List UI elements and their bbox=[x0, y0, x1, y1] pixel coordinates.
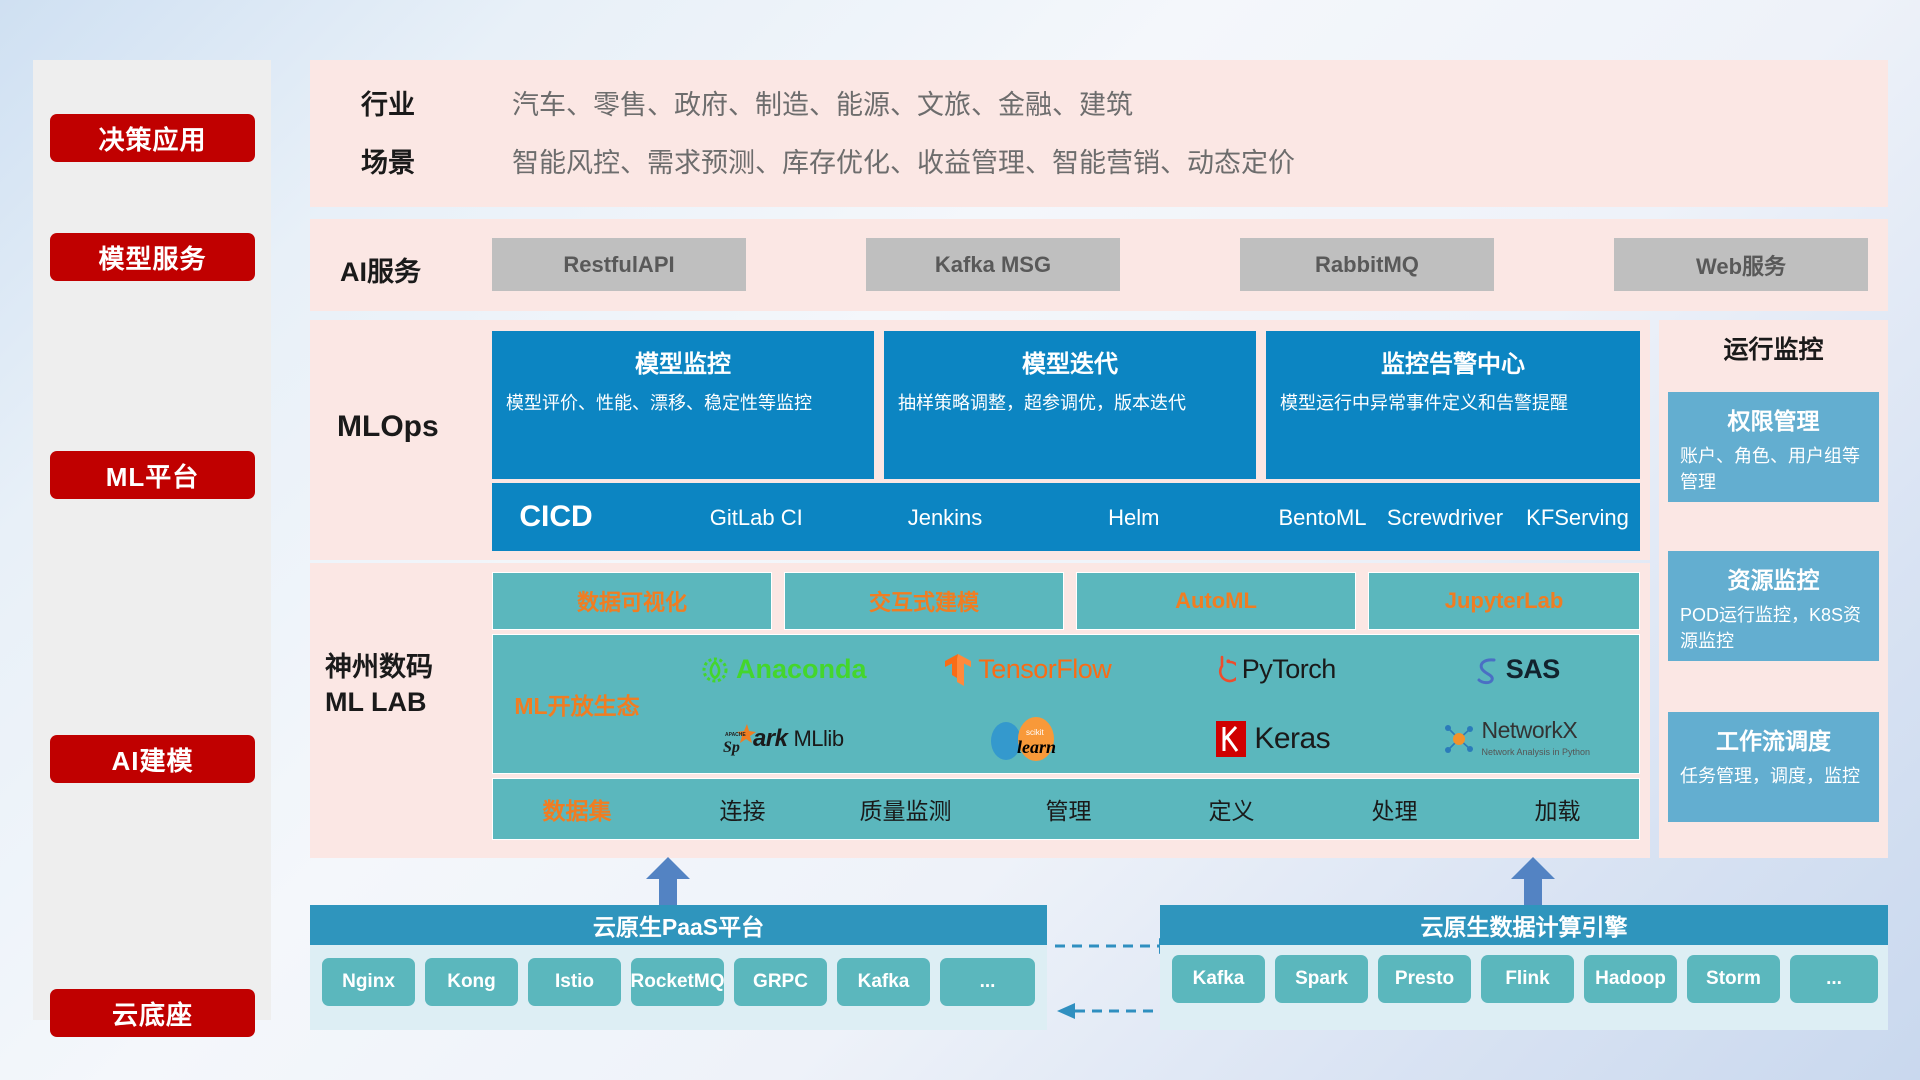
engine-chip-more[interactable]: ... bbox=[1790, 955, 1878, 1003]
chip-label: Hadoop bbox=[1595, 969, 1666, 989]
chip-label: Presto bbox=[1395, 969, 1454, 989]
tool-label: 数据可视化 bbox=[577, 585, 687, 617]
keras-logo: Keras bbox=[1214, 720, 1330, 758]
mllib-wordmark: MLlib bbox=[793, 726, 843, 752]
svg-text:learn: learn bbox=[1017, 737, 1056, 757]
card-title: 权限管理 bbox=[1680, 402, 1867, 436]
dataset-item-quality[interactable]: 质量监测 bbox=[824, 792, 987, 826]
chip-label: GRPC bbox=[753, 972, 808, 992]
rail-label: AI建模 bbox=[111, 741, 193, 778]
cicd-item-helm[interactable]: Helm bbox=[998, 483, 1271, 531]
rail-item-cloud-foundation[interactable]: 云底座 bbox=[50, 989, 255, 1037]
architecture-diagram: 决策应用 模型服务 ML平台 AI建模 云底座 行业 汽车、零售、政府、制造、能… bbox=[0, 0, 1920, 1080]
pytorch-wordmark: PyTorch bbox=[1242, 654, 1336, 685]
chip-label: Kafka bbox=[1193, 969, 1245, 989]
lab-tool-data-visualization[interactable]: 数据可视化 bbox=[492, 572, 772, 630]
svg-text:scikit: scikit bbox=[1026, 728, 1045, 737]
rail-label: 模型服务 bbox=[98, 239, 206, 276]
ml-ecosystem-label: ML开放生态 bbox=[493, 687, 661, 721]
tool-label: JupyterLab bbox=[1445, 588, 1564, 614]
paas-chip-istio[interactable]: Istio bbox=[528, 958, 621, 1006]
dataset-item-process[interactable]: 处理 bbox=[1313, 792, 1476, 826]
industry-label: 行业 bbox=[361, 83, 415, 122]
rail-item-decision-app[interactable]: 决策应用 bbox=[50, 114, 255, 162]
engine-chip-presto[interactable]: Presto bbox=[1378, 955, 1471, 1003]
networkx-logo: NetworkX Network Analysis in Python bbox=[1443, 718, 1590, 760]
chip-label: ... bbox=[980, 972, 996, 992]
ml-lab-label-line1: 神州数码 bbox=[325, 650, 433, 685]
dataset-bar: 数据集 连接 质量监测 管理 定义 处理 加载 bbox=[492, 778, 1640, 840]
card-desc: 模型运行中异常事件定义和告警提醒 bbox=[1280, 390, 1626, 416]
card-desc: 账户、角色、用户组等管理 bbox=[1680, 444, 1867, 495]
engine-chip-storm[interactable]: Storm bbox=[1687, 955, 1780, 1003]
industry-values: 汽车、零售、政府、制造、能源、文旅、金融、建筑 bbox=[512, 83, 1133, 122]
anaconda-logo: Anaconda bbox=[700, 654, 867, 685]
cicd-item-gitlab-ci[interactable]: GitLab CI bbox=[620, 483, 893, 531]
engine-chip-kafka[interactable]: Kafka bbox=[1172, 955, 1265, 1003]
tensorflow-logo: TensorFlow bbox=[944, 653, 1111, 687]
paas-title-label: 云原生PaaS平台 bbox=[593, 908, 764, 942]
service-box-label: Kafka MSG bbox=[935, 252, 1051, 278]
lab-tool-automl[interactable]: AutoML bbox=[1076, 572, 1356, 630]
service-box-label: RabbitMQ bbox=[1315, 252, 1419, 278]
chip-label: Flink bbox=[1505, 969, 1549, 989]
monitoring-card-resource[interactable]: 资源监控 POD运行监控，K8S资源监控 bbox=[1668, 551, 1879, 661]
paas-chip-nginx[interactable]: Nginx bbox=[322, 958, 415, 1006]
chip-label: Storm bbox=[1706, 969, 1761, 989]
dataset-item-load[interactable]: 加载 bbox=[1476, 792, 1639, 826]
chip-label: Kafka bbox=[858, 972, 910, 992]
cicd-item-screwdriver[interactable]: Screwdriver bbox=[1375, 483, 1515, 531]
paas-chip-grpc[interactable]: GRPC bbox=[734, 958, 827, 1006]
rail-label: 决策应用 bbox=[98, 120, 206, 157]
up-arrow-paas bbox=[645, 857, 691, 905]
card-title: 模型监控 bbox=[506, 344, 860, 379]
paas-chip-rocketmq[interactable]: RocketMQ bbox=[631, 958, 724, 1006]
ml-lab-label: 神州数码 ML LAB bbox=[325, 650, 433, 720]
chip-label: ... bbox=[1826, 969, 1842, 989]
mlops-card-model-iteration[interactable]: 模型迭代 抽样策略调整，超参调优，版本迭代 bbox=[884, 331, 1256, 479]
spark-logo: APACHE Sp ark MLlib bbox=[723, 722, 844, 756]
scenario-label: 场景 bbox=[361, 141, 415, 180]
card-title: 模型迭代 bbox=[898, 344, 1242, 379]
networkx-wordmark: NetworkX bbox=[1481, 717, 1577, 743]
mlops-card-model-monitoring[interactable]: 模型监控 模型评价、性能、漂移、稳定性等监控 bbox=[492, 331, 874, 479]
lab-tool-interactive-modeling[interactable]: 交互式建模 bbox=[784, 572, 1064, 630]
svg-text:Sp: Sp bbox=[723, 739, 740, 756]
card-desc: 抽样策略调整，超参调优，版本迭代 bbox=[898, 390, 1242, 416]
card-title: 工作流调度 bbox=[1680, 722, 1867, 756]
monitoring-card-permission[interactable]: 权限管理 账户、角色、用户组等管理 bbox=[1668, 392, 1879, 502]
paas-platform-title: 云原生PaaS平台 bbox=[310, 905, 1047, 945]
card-title: 资源监控 bbox=[1680, 561, 1867, 595]
keras-wordmark: Keras bbox=[1254, 722, 1330, 756]
layer-rail: 决策应用 模型服务 ML平台 AI建模 云底座 bbox=[33, 60, 271, 1020]
data-engine-title: 云原生数据计算引擎 bbox=[1160, 905, 1888, 945]
spark-wordmark-ark: ark bbox=[753, 725, 788, 753]
dataset-item-connect[interactable]: 连接 bbox=[661, 792, 824, 826]
monitoring-title: 运行监控 bbox=[1659, 330, 1888, 366]
rail-label: 云底座 bbox=[112, 995, 193, 1032]
anaconda-wordmark: Anaconda bbox=[736, 654, 867, 685]
pytorch-logo: PyTorch bbox=[1209, 654, 1336, 685]
chip-label: RocketMQ bbox=[631, 972, 725, 992]
card-desc: POD运行监控，K8S资源监控 bbox=[1680, 603, 1867, 654]
mlops-label: MLOps bbox=[337, 410, 439, 444]
service-box-rabbitmq[interactable]: RabbitMQ bbox=[1240, 238, 1494, 291]
monitoring-card-workflow[interactable]: 工作流调度 任务管理，调度，监控 bbox=[1668, 712, 1879, 822]
ml-ecosystem-box: ML开放生态 Anaconda TensorFlow bbox=[492, 634, 1640, 774]
networkx-tagline: Network Analysis in Python bbox=[1481, 747, 1590, 757]
chip-label: Spark bbox=[1295, 969, 1348, 989]
tool-label: AutoML bbox=[1175, 588, 1257, 614]
engine-chip-spark[interactable]: Spark bbox=[1275, 955, 1368, 1003]
dataset-item-manage[interactable]: 管理 bbox=[987, 792, 1150, 826]
sas-logo: SAS bbox=[1474, 654, 1560, 685]
paas-chip-kong[interactable]: Kong bbox=[425, 958, 518, 1006]
card-desc: 任务管理，调度，监控 bbox=[1680, 764, 1867, 790]
service-box-web-service[interactable]: Web服务 bbox=[1614, 238, 1868, 291]
dataset-item-define[interactable]: 定义 bbox=[1150, 792, 1313, 826]
engine-chip-flink[interactable]: Flink bbox=[1481, 955, 1574, 1003]
scenario-values: 智能风控、需求预测、库存优化、收益管理、智能营销、动态定价 bbox=[512, 141, 1295, 180]
service-box-kafka-msg[interactable]: Kafka MSG bbox=[866, 238, 1120, 291]
mlops-card-alert-center[interactable]: 监控告警中心 模型运行中异常事件定义和告警提醒 bbox=[1266, 331, 1640, 479]
data-engine-title-label: 云原生数据计算引擎 bbox=[1421, 908, 1628, 942]
scikit-learn-logo: scikit learn bbox=[984, 714, 1072, 764]
chip-label: Kong bbox=[447, 972, 496, 992]
service-box-label: Web服务 bbox=[1696, 249, 1786, 281]
ml-ecosystem-logo-grid: Anaconda TensorFlow PyTorch bbox=[661, 635, 1639, 773]
paas-chip-kafka[interactable]: Kafka bbox=[837, 958, 930, 1006]
service-box-label: RestfulAPI bbox=[563, 252, 674, 278]
chip-label: Nginx bbox=[342, 972, 395, 992]
rail-item-ml-platform[interactable]: ML平台 bbox=[50, 451, 255, 499]
tensorflow-wordmark: TensorFlow bbox=[978, 654, 1111, 685]
card-desc: 模型评价、性能、漂移、稳定性等监控 bbox=[506, 390, 860, 416]
up-arrow-data-engine bbox=[1510, 857, 1556, 905]
lab-tool-jupyterlab[interactable]: JupyterLab bbox=[1368, 572, 1640, 630]
rail-label: ML平台 bbox=[106, 457, 200, 494]
service-box-restfulapi[interactable]: RestfulAPI bbox=[492, 238, 746, 291]
engine-chip-hadoop[interactable]: Hadoop bbox=[1584, 955, 1677, 1003]
chip-label: Istio bbox=[555, 972, 594, 992]
ml-lab-label-line2: ML LAB bbox=[325, 685, 433, 720]
cicd-item-bentoml[interactable]: BentoML bbox=[1270, 483, 1375, 531]
card-title: 监控告警中心 bbox=[1280, 344, 1626, 379]
sas-wordmark: SAS bbox=[1506, 654, 1560, 685]
cicd-head-label: CICD bbox=[492, 483, 620, 551]
cicd-item-kfserving[interactable]: KFServing bbox=[1515, 483, 1640, 531]
cicd-item-jenkins[interactable]: Jenkins bbox=[893, 483, 998, 531]
rail-item-model-service[interactable]: 模型服务 bbox=[50, 233, 255, 281]
svg-text:APACHE: APACHE bbox=[725, 732, 746, 738]
cicd-bar: CICD GitLab CI Jenkins Helm BentoML Scre… bbox=[492, 483, 1640, 551]
tool-label: 交互式建模 bbox=[869, 585, 979, 617]
ai-service-label: AI服务 bbox=[340, 250, 421, 289]
paas-chip-more[interactable]: ... bbox=[940, 958, 1035, 1006]
rail-item-ai-modeling[interactable]: AI建模 bbox=[50, 735, 255, 783]
dataset-head-label: 数据集 bbox=[493, 792, 661, 826]
